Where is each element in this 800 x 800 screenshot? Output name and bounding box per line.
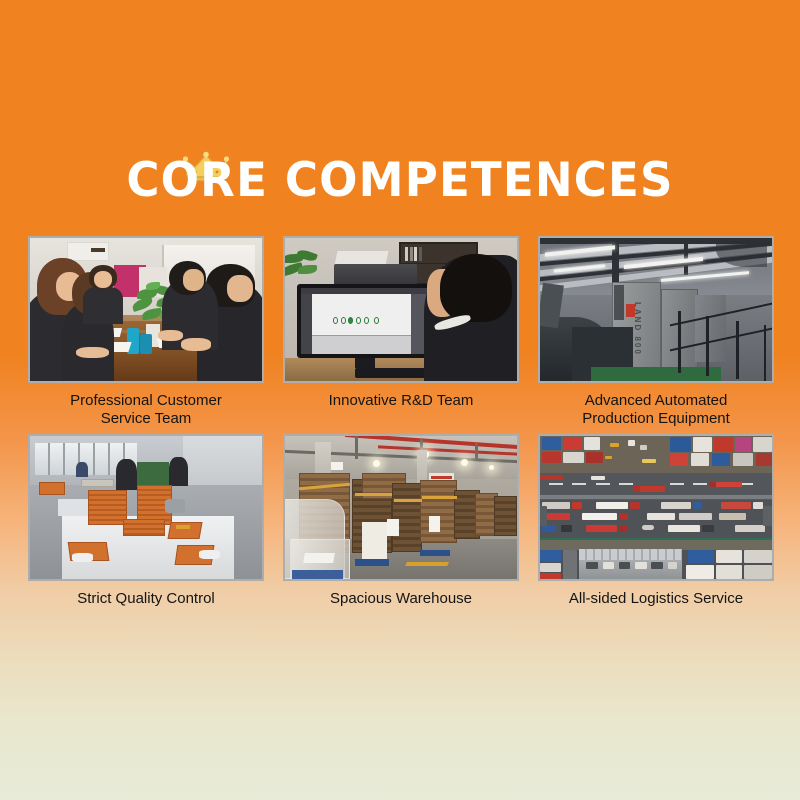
competence-card-production-equipment[interactable]: LAND 800	[538, 236, 774, 428]
competence-card-customer-service[interactable]: Professional Customer Service Team	[28, 236, 264, 428]
photo-customer-service-team	[28, 236, 264, 383]
competence-card-warehouse[interactable]: Spacious Warehouse	[283, 434, 519, 626]
caption-customer-service-team: Professional Customer Service Team	[28, 392, 264, 428]
caption-innovative-rd-team: Innovative R&D Team	[283, 392, 519, 428]
photo-spacious-warehouse	[283, 434, 519, 581]
page-title: CORE COMPETENCES	[126, 150, 673, 212]
competences-grid: Professional Customer Service Team	[28, 236, 772, 626]
competence-card-logistics[interactable]: All-sided Logistics Service	[538, 434, 774, 626]
competence-card-rd-team[interactable]: Innovative R&D Team	[283, 236, 519, 428]
caption-production-equipment: Advanced Automated Production Equipment	[538, 392, 774, 428]
photo-innovative-rd-team	[283, 236, 519, 383]
caption-quality-control: Strict Quality Control	[28, 590, 264, 626]
photo-logistics-service	[538, 434, 774, 581]
photo-quality-control	[28, 434, 264, 581]
page-root: CORE COMPETENCES	[0, 0, 800, 800]
page-title-block: CORE COMPETENCES	[0, 150, 800, 212]
competence-card-quality-control[interactable]: Strict Quality Control	[28, 434, 264, 626]
caption-logistics-service: All-sided Logistics Service	[538, 590, 774, 626]
photo-production-equipment: LAND 800	[538, 236, 774, 383]
caption-spacious-warehouse: Spacious Warehouse	[283, 590, 519, 626]
